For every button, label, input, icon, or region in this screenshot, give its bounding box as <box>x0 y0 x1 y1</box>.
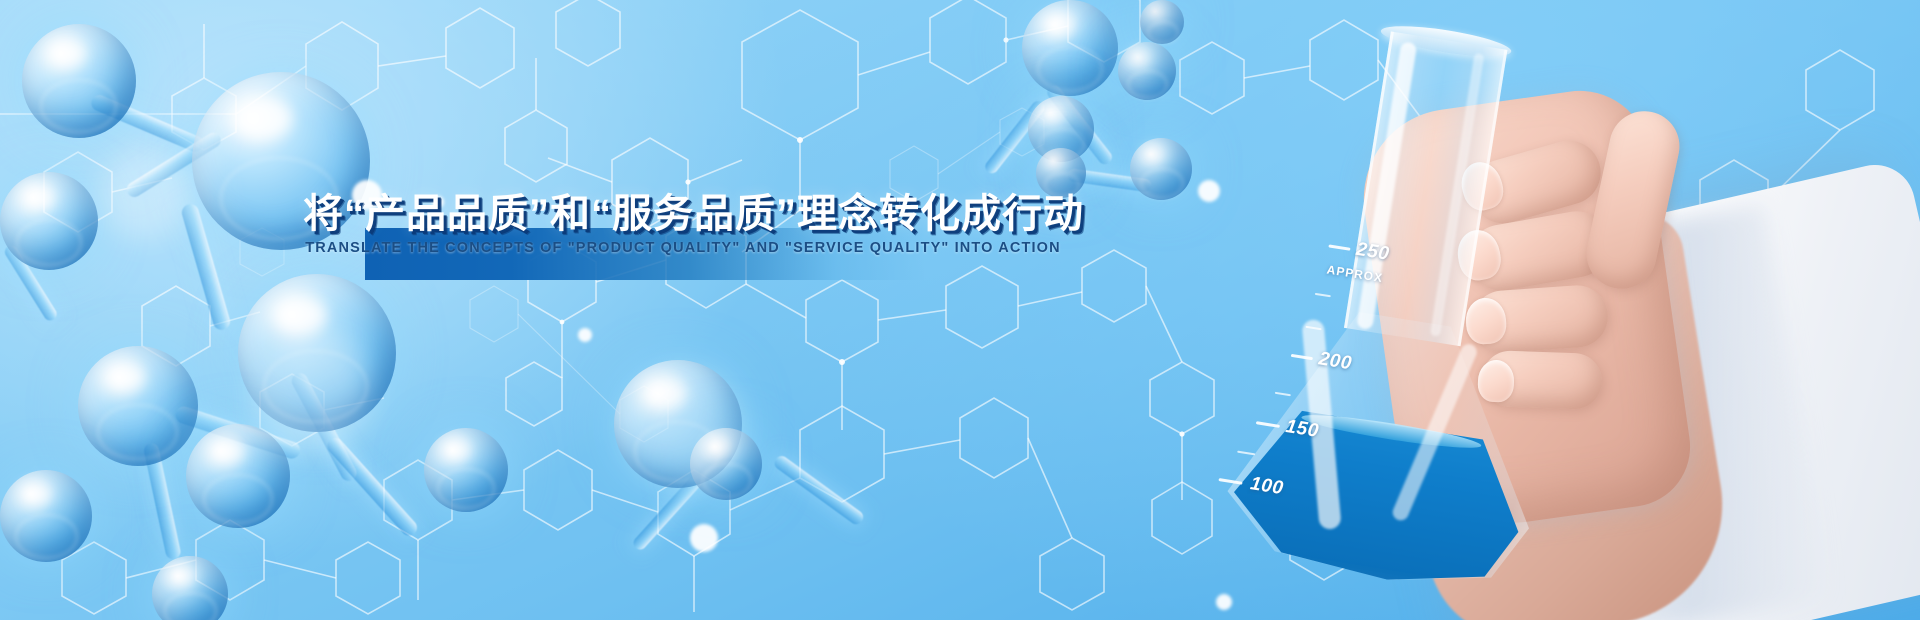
bokeh-dot <box>690 524 718 552</box>
page-subtitle: TRANSLATE THE CONCEPTS OF "PRODUCT QUALI… <box>303 240 1063 256</box>
erlenmeyer-flask: 250 APPROX 200 150 100 <box>1160 0 1664 620</box>
soft-bokeh <box>628 372 738 482</box>
molecule-sphere <box>424 428 508 512</box>
soft-bokeh <box>100 150 190 240</box>
molecule-bond <box>772 453 866 527</box>
molecule-sphere <box>1028 96 1094 162</box>
bokeh-dot <box>578 328 592 342</box>
molecule-sphere <box>152 556 228 620</box>
flask-tick <box>1328 244 1350 250</box>
soft-bokeh <box>252 330 372 450</box>
molecule-sphere <box>0 172 98 270</box>
molecule-sphere <box>690 428 762 500</box>
molecule-sphere <box>0 470 92 562</box>
molecule-bond <box>1067 168 1152 193</box>
molecule-bond <box>289 370 359 483</box>
molecule-sphere <box>78 346 198 466</box>
molecule-sphere <box>1022 0 1118 96</box>
molecule-bond <box>1044 83 1114 167</box>
page-title: 将“产品品质”和“服务品质”理念转化成行动 <box>303 190 1063 238</box>
molecule-bond <box>143 442 182 561</box>
molecule-sphere <box>186 424 290 528</box>
molecule-sphere <box>238 274 396 432</box>
flask-tick <box>1275 392 1291 396</box>
molecule-sphere <box>22 24 136 138</box>
flask-tick <box>1237 451 1255 456</box>
molecule-bond <box>631 472 705 552</box>
molecule-sphere <box>614 360 742 488</box>
molecule-bond <box>324 435 420 539</box>
flask-tick <box>1315 293 1331 297</box>
molecule-bond <box>124 130 224 200</box>
molecule-bond <box>173 404 302 460</box>
molecule-bond <box>983 98 1047 175</box>
banner-stage: 将“产品品质”和“服务品质”理念转化成行动 TRANSLATE THE CONC… <box>0 0 1920 620</box>
flask-tick <box>1256 421 1280 428</box>
molecule-bond <box>180 202 232 332</box>
scientist-photo: 250 APPROX 200 150 100 <box>1160 0 1920 620</box>
molecule-bond <box>89 93 206 155</box>
molecule-bond <box>2 243 59 323</box>
